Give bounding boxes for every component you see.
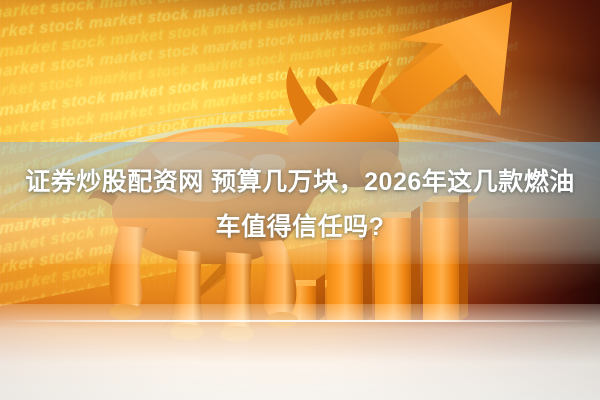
- vignette-overlay: [0, 0, 600, 400]
- promo-banner: stock market stock market stock market s…: [0, 0, 600, 400]
